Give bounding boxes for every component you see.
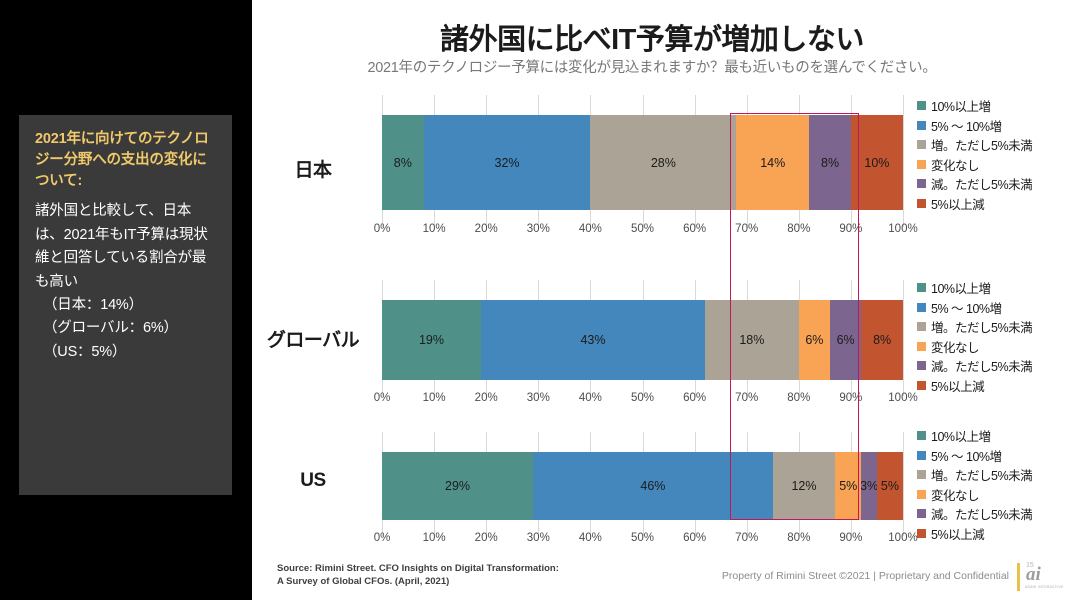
x-axis-tick: 90%: [839, 532, 862, 544]
legend-swatch-icon: [917, 303, 926, 312]
x-axis-tick: 60%: [683, 392, 706, 404]
callout-line-us: （US：5%）: [35, 341, 216, 364]
legend-swatch-icon: [917, 322, 926, 331]
stacked-bar-日本[interactable]: 8%32%28%14%8%10%: [382, 115, 903, 210]
bar-segment[interactable]: 32%: [424, 115, 591, 210]
bar-segment[interactable]: 6%: [799, 300, 830, 380]
x-axis-tick: 30%: [527, 532, 550, 544]
callout-title: 2021年に向けてのテクノロジー分野への支出の変化について:: [35, 129, 216, 192]
legend-swatch-icon: [917, 121, 926, 130]
x-axis-tick: 30%: [527, 223, 550, 235]
legend-label: 減。ただし5%未満: [931, 356, 1032, 375]
bar-segment[interactable]: 12%: [773, 452, 836, 520]
legend-item[interactable]: 変化なし: [917, 155, 1067, 175]
legend-item[interactable]: 増。ただし5%未満: [917, 135, 1067, 155]
bar-segment[interactable]: 14%: [736, 115, 809, 210]
bar-segment[interactable]: 5%: [877, 452, 903, 520]
callout-line-japan: （日本：14%）: [35, 294, 216, 317]
legend-swatch-icon: [917, 101, 926, 110]
callout-line-global: （グローバル：6%）: [35, 317, 216, 340]
x-axis-tick: 80%: [787, 392, 810, 404]
legend-label: 10%以上増: [931, 96, 991, 115]
legend-swatch-icon: [917, 470, 926, 479]
x-axis-tick: 70%: [735, 392, 758, 404]
legend-label: 増。ただし5%未満: [931, 135, 1032, 154]
bar-segment[interactable]: 8%: [861, 300, 903, 380]
bar-segment[interactable]: 8%: [809, 115, 851, 210]
legend-swatch-icon: [917, 361, 926, 370]
legend-label: 5% ～ 10%増: [931, 446, 1002, 465]
asahi-interactive-logo: 15 ai ASAHI INTERACTIVE: [1015, 562, 1059, 594]
legend-label: 変化なし: [931, 485, 979, 504]
gridline: [903, 280, 904, 396]
legend-item[interactable]: 減。ただし5%未満: [917, 174, 1067, 194]
bar-segment[interactable]: 6%: [830, 300, 861, 380]
x-axis-tick: 20%: [475, 392, 498, 404]
x-axis-tick: 40%: [579, 223, 602, 235]
x-axis: 0%10%20%30%40%50%60%70%80%90%100%: [382, 392, 903, 408]
logo-subtitle: ASAHI INTERACTIVE: [1025, 585, 1064, 589]
x-axis-tick: 70%: [735, 532, 758, 544]
legend-item[interactable]: 10%以上増: [917, 426, 1067, 446]
legend-item[interactable]: 10%以上増: [917, 96, 1067, 116]
x-axis-tick: 100%: [888, 392, 917, 404]
slide: 2021年に向けてのテクノロジー分野への支出の変化について: 諸外国と比較して、…: [0, 0, 1067, 600]
legend-swatch-icon: [917, 490, 926, 499]
legend-label: 5% ～ 10%増: [931, 116, 1002, 135]
x-axis-tick: 30%: [527, 392, 550, 404]
category-label-日本: 日本: [252, 155, 374, 182]
legend-label: 5%以上減: [931, 194, 984, 213]
x-axis-tick: 50%: [631, 223, 654, 235]
stacked-bar-グローバル[interactable]: 19%43%18%6%6%8%: [382, 300, 903, 380]
gridline: [903, 95, 904, 227]
x-axis-tick: 0%: [374, 392, 391, 404]
logo-bar-icon: [1017, 563, 1020, 591]
callout-body: 諸外国と比較して、日本は、2021年もIT予算は現状維と回答している割合が最も高…: [35, 200, 216, 294]
bar-segment[interactable]: 8%: [382, 115, 424, 210]
legend-item[interactable]: 増。ただし5%未満: [917, 465, 1067, 485]
bar-segment[interactable]: 18%: [705, 300, 799, 380]
legend-swatch-icon: [917, 283, 926, 292]
x-axis-tick: 70%: [735, 223, 758, 235]
legend-label: 増。ただし5%未満: [931, 317, 1032, 336]
x-axis: 0%10%20%30%40%50%60%70%80%90%100%: [382, 532, 903, 548]
legend-label: 5%以上減: [931, 524, 984, 543]
legend-item[interactable]: 10%以上増: [917, 278, 1067, 298]
chart-panel-2: グローバル19%43%18%6%6%8%0%10%20%30%40%50%60%…: [252, 280, 1067, 414]
legend-swatch-icon: [917, 342, 926, 351]
logo-wordmark: ai: [1026, 565, 1041, 584]
legend-item[interactable]: 5% ～ 10%増: [917, 116, 1067, 136]
bar-segment[interactable]: 43%: [481, 300, 705, 380]
source-line-1: Source: Rimini Street. CFO Insights on D…: [277, 563, 559, 576]
legend-label: 10%以上増: [931, 278, 991, 297]
copyright-note: Property of Rimini Street ©2021 | Propri…: [722, 570, 1009, 582]
x-axis-tick: 50%: [631, 392, 654, 404]
legend-label: 減。ただし5%未満: [931, 174, 1032, 193]
legend-label: 5%以上減: [931, 376, 984, 395]
legend-swatch-icon: [917, 451, 926, 460]
legend-swatch-icon: [917, 199, 926, 208]
source-line-2: A Survey of Global CFOs. (April, 2021): [277, 576, 559, 589]
source-note: Source: Rimini Street. CFO Insights on D…: [277, 563, 559, 589]
x-axis-tick: 20%: [475, 532, 498, 544]
category-label-グローバル: グローバル: [252, 325, 374, 352]
bar-segment[interactable]: 19%: [382, 300, 481, 380]
legend-swatch-icon: [917, 160, 926, 169]
legend-item[interactable]: 5% ～ 10%増: [917, 446, 1067, 466]
x-axis-tick: 80%: [787, 532, 810, 544]
x-axis-tick: 100%: [888, 223, 917, 235]
x-axis-tick: 100%: [888, 532, 917, 544]
legend-swatch-icon: [917, 431, 926, 440]
legend: 10%以上増5% ～ 10%増増。ただし5%未満変化なし減。ただし5%未満5%以…: [917, 96, 1067, 213]
bar-segment[interactable]: 28%: [590, 115, 736, 210]
legend-item[interactable]: 増。ただし5%未満: [917, 317, 1067, 337]
legend-swatch-icon: [917, 140, 926, 149]
bar-segment[interactable]: 5%: [835, 452, 861, 520]
bar-segment[interactable]: 29%: [382, 452, 533, 520]
chart-panel-1: 日本8%32%28%14%8%10%0%10%20%30%40%50%60%70…: [252, 95, 1067, 245]
x-axis-tick: 40%: [579, 392, 602, 404]
legend-item[interactable]: 変化なし: [917, 337, 1067, 357]
legend-label: 5% ～ 10%増: [931, 298, 1002, 317]
x-axis: 0%10%20%30%40%50%60%70%80%90%100%: [382, 223, 903, 239]
legend-item[interactable]: 減。ただし5%未満: [917, 356, 1067, 376]
legend-swatch-icon: [917, 509, 926, 518]
x-axis-tick: 80%: [787, 223, 810, 235]
callout-box: 2021年に向けてのテクノロジー分野への支出の変化について: 諸外国と比較して、…: [19, 115, 232, 495]
legend-label: 変化なし: [931, 155, 979, 174]
x-axis-tick: 60%: [683, 223, 706, 235]
chart-area: 諸外国に比べIT予算が増加しない 2021年のテクノロジー予算には変化が見込まれ…: [252, 0, 1067, 600]
x-axis-tick: 60%: [683, 532, 706, 544]
plot-region: 19%43%18%6%6%8%0%10%20%30%40%50%60%70%80…: [382, 280, 903, 412]
legend-item[interactable]: 変化なし: [917, 485, 1067, 505]
legend-label: 増。ただし5%未満: [931, 465, 1032, 484]
legend-swatch-icon: [917, 381, 926, 390]
bar-segment[interactable]: 10%: [851, 115, 903, 210]
gridline: [903, 432, 904, 536]
legend-swatch-icon: [917, 179, 926, 188]
x-axis-tick: 90%: [839, 392, 862, 404]
legend: 10%以上増5% ～ 10%増増。ただし5%未満変化なし減。ただし5%未満5%以…: [917, 278, 1067, 395]
legend-label: 減。ただし5%未満: [931, 504, 1032, 523]
category-label-US: US: [252, 470, 374, 492]
legend-item[interactable]: 5%以上減: [917, 524, 1067, 544]
x-axis-tick: 10%: [423, 392, 446, 404]
x-axis-tick: 10%: [423, 532, 446, 544]
x-axis-tick: 0%: [374, 532, 391, 544]
x-axis-tick: 50%: [631, 532, 654, 544]
left-dark-panel: 2021年に向けてのテクノロジー分野への支出の変化について: 諸外国と比較して、…: [0, 0, 252, 600]
x-axis-tick: 40%: [579, 532, 602, 544]
legend-item[interactable]: 5%以上減: [917, 194, 1067, 214]
chart-panel-3: US29%46%12%5%3%5%0%10%20%30%40%50%60%70%…: [252, 432, 1067, 554]
legend-item[interactable]: 減。ただし5%未満: [917, 504, 1067, 524]
legend-item[interactable]: 5%以上減: [917, 376, 1067, 396]
stacked-bar-US[interactable]: 29%46%12%5%3%5%: [382, 452, 903, 520]
legend-label: 10%以上増: [931, 426, 991, 445]
page-subtitle: 2021年のテクノロジー予算には変化が見込まれますか？最も近いものを選んでくださ…: [252, 56, 1052, 77]
x-axis-tick: 20%: [475, 223, 498, 235]
x-axis-tick: 10%: [423, 223, 446, 235]
legend: 10%以上増5% ～ 10%増増。ただし5%未満変化なし減。ただし5%未満5%以…: [917, 426, 1067, 543]
bar-segment[interactable]: 3%: [861, 452, 877, 520]
plot-region: 8%32%28%14%8%10%0%10%20%30%40%50%60%70%8…: [382, 95, 903, 243]
x-axis-tick: 0%: [374, 223, 391, 235]
plot-region: 29%46%12%5%3%5%0%10%20%30%40%50%60%70%80…: [382, 432, 903, 552]
bar-segment[interactable]: 46%: [533, 452, 773, 520]
legend-label: 変化なし: [931, 337, 979, 356]
legend-swatch-icon: [917, 529, 926, 538]
legend-item[interactable]: 5% ～ 10%増: [917, 298, 1067, 318]
page-title: 諸外国に比べIT予算が増加しない: [252, 16, 1052, 58]
x-axis-tick: 90%: [839, 223, 862, 235]
